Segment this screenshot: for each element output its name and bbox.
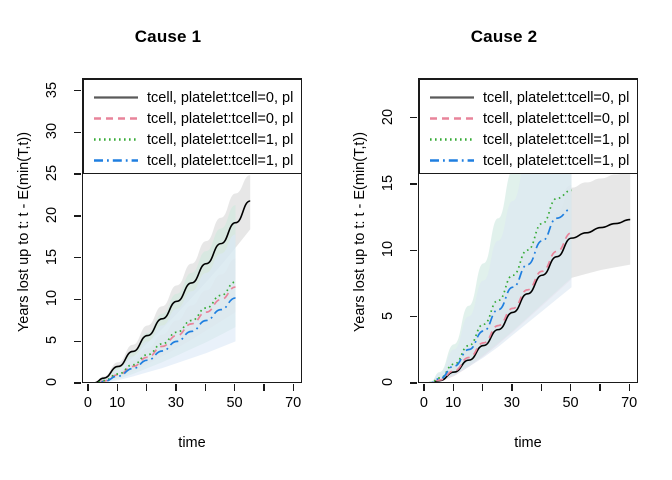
x-tick-label: 10 [95, 395, 139, 411]
y-tick-label: 5 [44, 318, 60, 362]
x-axis-title-cause-2: time [418, 435, 638, 451]
y-tick [74, 382, 81, 383]
legend-line-swatch [429, 87, 475, 108]
y-tick [410, 382, 417, 383]
x-tick [87, 384, 88, 391]
legend-cause-2: tcell, platelet:tcell=0, pltcell, platel… [419, 79, 638, 174]
x-tick [511, 384, 512, 391]
legend-label: tcell, platelet:tcell=1, pl [483, 132, 629, 148]
y-tick-label: 15 [44, 235, 60, 279]
y-tick-label: 25 [44, 151, 60, 195]
y-tick [74, 132, 81, 133]
y-tick-label: 0 [44, 360, 60, 404]
x-tick-label: 30 [154, 395, 198, 411]
legend-item: tcell, platelet:tcell=0, pl [84, 87, 293, 108]
x-tick-label: 50 [213, 395, 257, 411]
x-tick [570, 384, 571, 391]
x-tick-label: 50 [549, 395, 593, 411]
legend-cause-1: tcell, platelet:tcell=0, pltcell, platel… [83, 79, 302, 174]
y-tick-label: 10 [380, 227, 396, 271]
y-tick [74, 257, 81, 258]
panel-cause-1: Cause 1 Years lost up to t: t - E(min(T,… [0, 0, 336, 480]
x-tick [293, 384, 294, 391]
legend-item: tcell, platelet:tcell=0, pl [420, 108, 629, 129]
x-tick [541, 384, 542, 391]
y-tick [74, 90, 81, 91]
y-tick [410, 316, 417, 317]
legend-label: tcell, platelet:tcell=1, pl [483, 153, 629, 169]
y-tick [410, 117, 417, 118]
legend-item: tcell, platelet:tcell=0, pl [84, 108, 293, 129]
x-tick [629, 384, 630, 391]
legend-label: tcell, platelet:tcell=1, pl [147, 132, 293, 148]
y-tick-label: 15 [380, 161, 396, 205]
legend-line-swatch [429, 150, 475, 171]
y-tick-label: 20 [380, 95, 396, 139]
y-tick-label: 35 [44, 68, 60, 112]
figure-root: Cause 1 Years lost up to t: t - E(min(T,… [0, 0, 672, 480]
panel-title-cause-1: Cause 1 [0, 27, 336, 47]
legend-item: tcell, platelet:tcell=1, pl [84, 150, 293, 171]
y-tick [410, 183, 417, 184]
legend-line-swatch [93, 150, 139, 171]
y-tick-label: 10 [44, 276, 60, 320]
legend-item: tcell, platelet:tcell=1, pl [420, 129, 629, 150]
x-tick [117, 384, 118, 391]
y-tick [74, 299, 81, 300]
legend-line-swatch [93, 129, 139, 150]
y-tick-label: 20 [44, 193, 60, 237]
legend-line-swatch [93, 87, 139, 108]
legend-item: tcell, platelet:tcell=1, pl [420, 150, 629, 171]
x-tick [234, 384, 235, 391]
y-tick [410, 250, 417, 251]
x-tick [205, 384, 206, 391]
legend-line-swatch [93, 108, 139, 129]
legend-line-swatch [429, 108, 475, 129]
x-tick-label: 10 [431, 395, 475, 411]
panel-cause-2: Cause 2 Years lost up to t: t - E(min(T,… [336, 0, 672, 480]
y-axis-title-cause-1: Years lost up to t: t - E(min(T,t)) [16, 112, 32, 352]
y-tick-label: 0 [380, 360, 396, 404]
y-axis-title-cause-2: Years lost up to t: t - E(min(T,t)) [352, 112, 368, 352]
legend-label: tcell, platelet:tcell=0, pl [483, 90, 629, 106]
y-tick [74, 215, 81, 216]
x-tick [175, 384, 176, 391]
legend-label: tcell, platelet:tcell=1, pl [147, 153, 293, 169]
x-tick [263, 384, 264, 391]
panel-title-cause-2: Cause 2 [336, 27, 672, 47]
y-tick [74, 173, 81, 174]
x-tick-label: 70 [271, 395, 315, 411]
y-tick [74, 341, 81, 342]
x-tick [599, 384, 600, 391]
y-tick-label: 5 [380, 294, 396, 338]
x-tick [423, 384, 424, 391]
legend-item: tcell, platelet:tcell=1, pl [84, 129, 293, 150]
legend-item: tcell, platelet:tcell=0, pl [420, 87, 629, 108]
y-tick-label: 30 [44, 109, 60, 153]
x-axis-title-cause-1: time [82, 435, 302, 451]
x-tick [453, 384, 454, 391]
legend-label: tcell, platelet:tcell=0, pl [147, 111, 293, 127]
legend-line-swatch [429, 129, 475, 150]
x-tick [146, 384, 147, 391]
x-tick [482, 384, 483, 391]
x-tick-label: 30 [490, 395, 534, 411]
legend-label: tcell, platelet:tcell=0, pl [483, 111, 629, 127]
x-tick-label: 70 [607, 395, 651, 411]
legend-label: tcell, platelet:tcell=0, pl [147, 90, 293, 106]
